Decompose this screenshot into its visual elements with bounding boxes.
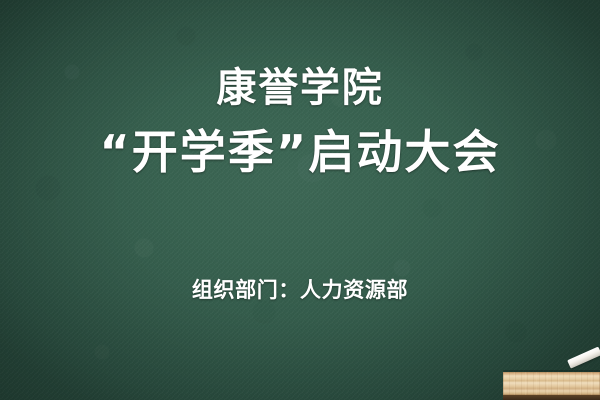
- slide-title: 康誉学院 “开学季”启动大会: [0, 62, 600, 183]
- slide-subtitle: 组织部门：人力资源部: [0, 274, 600, 304]
- title-line-2: “开学季”启动大会: [0, 122, 600, 184]
- chalk-tray-base-edge: [503, 395, 600, 400]
- title-line-1: 康誉学院: [0, 62, 600, 116]
- chalk-tray-wood-grain: [503, 372, 600, 395]
- slide-content: 康誉学院 “开学季”启动大会 组织部门：人力资源部: [0, 0, 600, 400]
- presentation-slide: 康誉学院 “开学季”启动大会 组织部门：人力资源部: [0, 0, 600, 400]
- chalk-tray: [503, 372, 600, 400]
